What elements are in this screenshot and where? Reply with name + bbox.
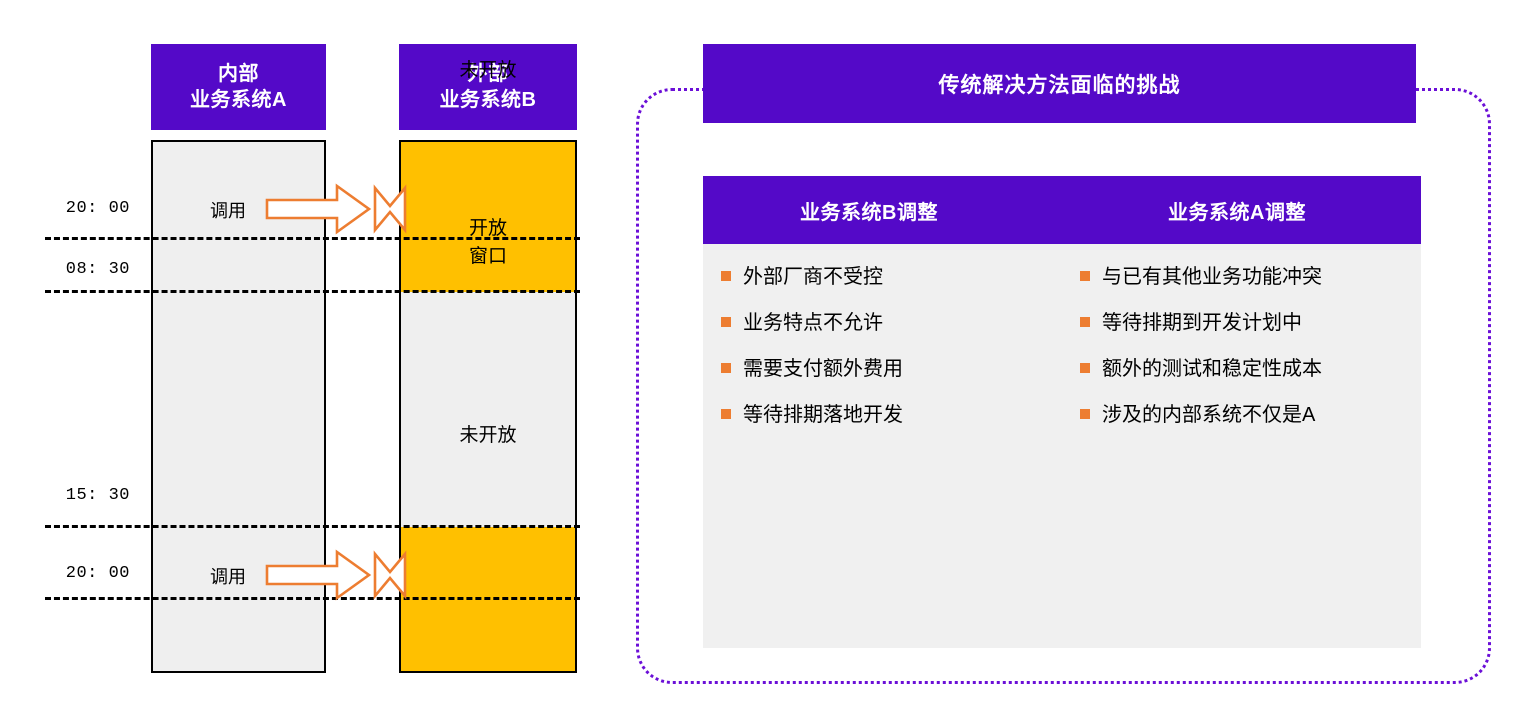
square-bullet-icon [721, 271, 731, 281]
square-bullet-icon [721, 363, 731, 373]
square-bullet-icon [721, 409, 731, 419]
blocked-bowtie-icon [375, 188, 405, 230]
time-divider-1530 [45, 525, 580, 528]
list-item: 外部厂商不受控 [721, 260, 1062, 294]
blocked-bowtie-icon [375, 554, 405, 596]
subheader-system-b: 业务系统B调整 [703, 176, 1071, 244]
list-item-label: 等待排期落地开发 [743, 398, 903, 432]
list-item: 需要支付额外费用 [721, 352, 1062, 386]
list-item: 等待排期落地开发 [721, 398, 1062, 432]
segment-label-open-window: 开放 窗口 [399, 215, 577, 270]
square-bullet-icon [721, 317, 731, 327]
segment-label-closed-top: 未开放 [399, 57, 577, 85]
list-item-label: 业务特点不允许 [743, 306, 883, 340]
list-item-label: 与已有其他业务功能冲突 [1102, 260, 1322, 294]
list-item-label: 涉及的内部系统不仅是A [1102, 398, 1315, 432]
list-item: 业务特点不允许 [721, 306, 1062, 340]
list-item-label: 等待排期到开发计划中 [1102, 306, 1302, 340]
bullet-column-system-a: 与已有其他业务功能冲突 等待排期到开发计划中 额外的测试和稳定性成本 涉及的内部… [1062, 260, 1421, 444]
time-label-2000-night: 20: 00 [20, 564, 130, 583]
column-header-internal-line2: 业务系统A [190, 87, 287, 113]
block-arrow-right-icon [267, 186, 369, 232]
call-label-top: 调用 [210, 197, 246, 223]
challenge-panel-title: 传统解决方法面临的挑战 [703, 44, 1416, 123]
block-arrow-right-icon [267, 552, 369, 598]
list-item: 涉及的内部系统不仅是A [1080, 398, 1421, 432]
column-header-internal-line1: 内部 [218, 61, 259, 87]
segment-label-closed-bottom: 未开放 [399, 422, 577, 450]
list-item-label: 外部厂商不受控 [743, 260, 883, 294]
list-item-label: 额外的测试和稳定性成本 [1102, 352, 1322, 386]
segment-open-window [401, 292, 575, 527]
bullet-column-system-b: 外部厂商不受控 业务特点不允许 需要支付额外费用 等待排期落地开发 [703, 260, 1062, 444]
square-bullet-icon [1080, 409, 1090, 419]
square-bullet-icon [1080, 317, 1090, 327]
list-item: 额外的测试和稳定性成本 [1080, 352, 1421, 386]
list-item: 与已有其他业务功能冲突 [1080, 260, 1421, 294]
time-label-0830: 08: 30 [20, 260, 130, 279]
column-header-internal: 内部 业务系统A [151, 44, 326, 130]
list-item: 等待排期到开发计划中 [1080, 306, 1421, 340]
timeline-diagram: 内部 业务系统A 外部 业务系统B 未开放 开放 窗口 未开放 20: 00 0… [0, 0, 620, 711]
square-bullet-icon [1080, 363, 1090, 373]
list-item-label: 需要支付额外费用 [743, 352, 903, 386]
challenge-bullet-columns: 外部厂商不受控 业务特点不允许 需要支付额外费用 等待排期落地开发 与已有其他业… [703, 244, 1421, 444]
blocked-call-arrow-top [265, 182, 415, 238]
challenge-panel-content: 业务系统B调整 业务系统A调整 外部厂商不受控 业务特点不允许 需要支付额外费用… [703, 176, 1421, 648]
blocked-call-arrow-bottom [265, 548, 415, 604]
subheader-system-a: 业务系统A调整 [1071, 176, 1421, 244]
time-divider-0830 [45, 290, 580, 293]
time-label-1530: 15: 30 [20, 486, 130, 505]
column-header-external-line2: 业务系统B [440, 87, 537, 113]
challenge-subheader-row: 业务系统B调整 业务系统A调整 [703, 176, 1421, 244]
time-label-2000-evening: 20: 00 [20, 199, 130, 218]
call-label-bottom: 调用 [210, 563, 246, 589]
square-bullet-icon [1080, 271, 1090, 281]
